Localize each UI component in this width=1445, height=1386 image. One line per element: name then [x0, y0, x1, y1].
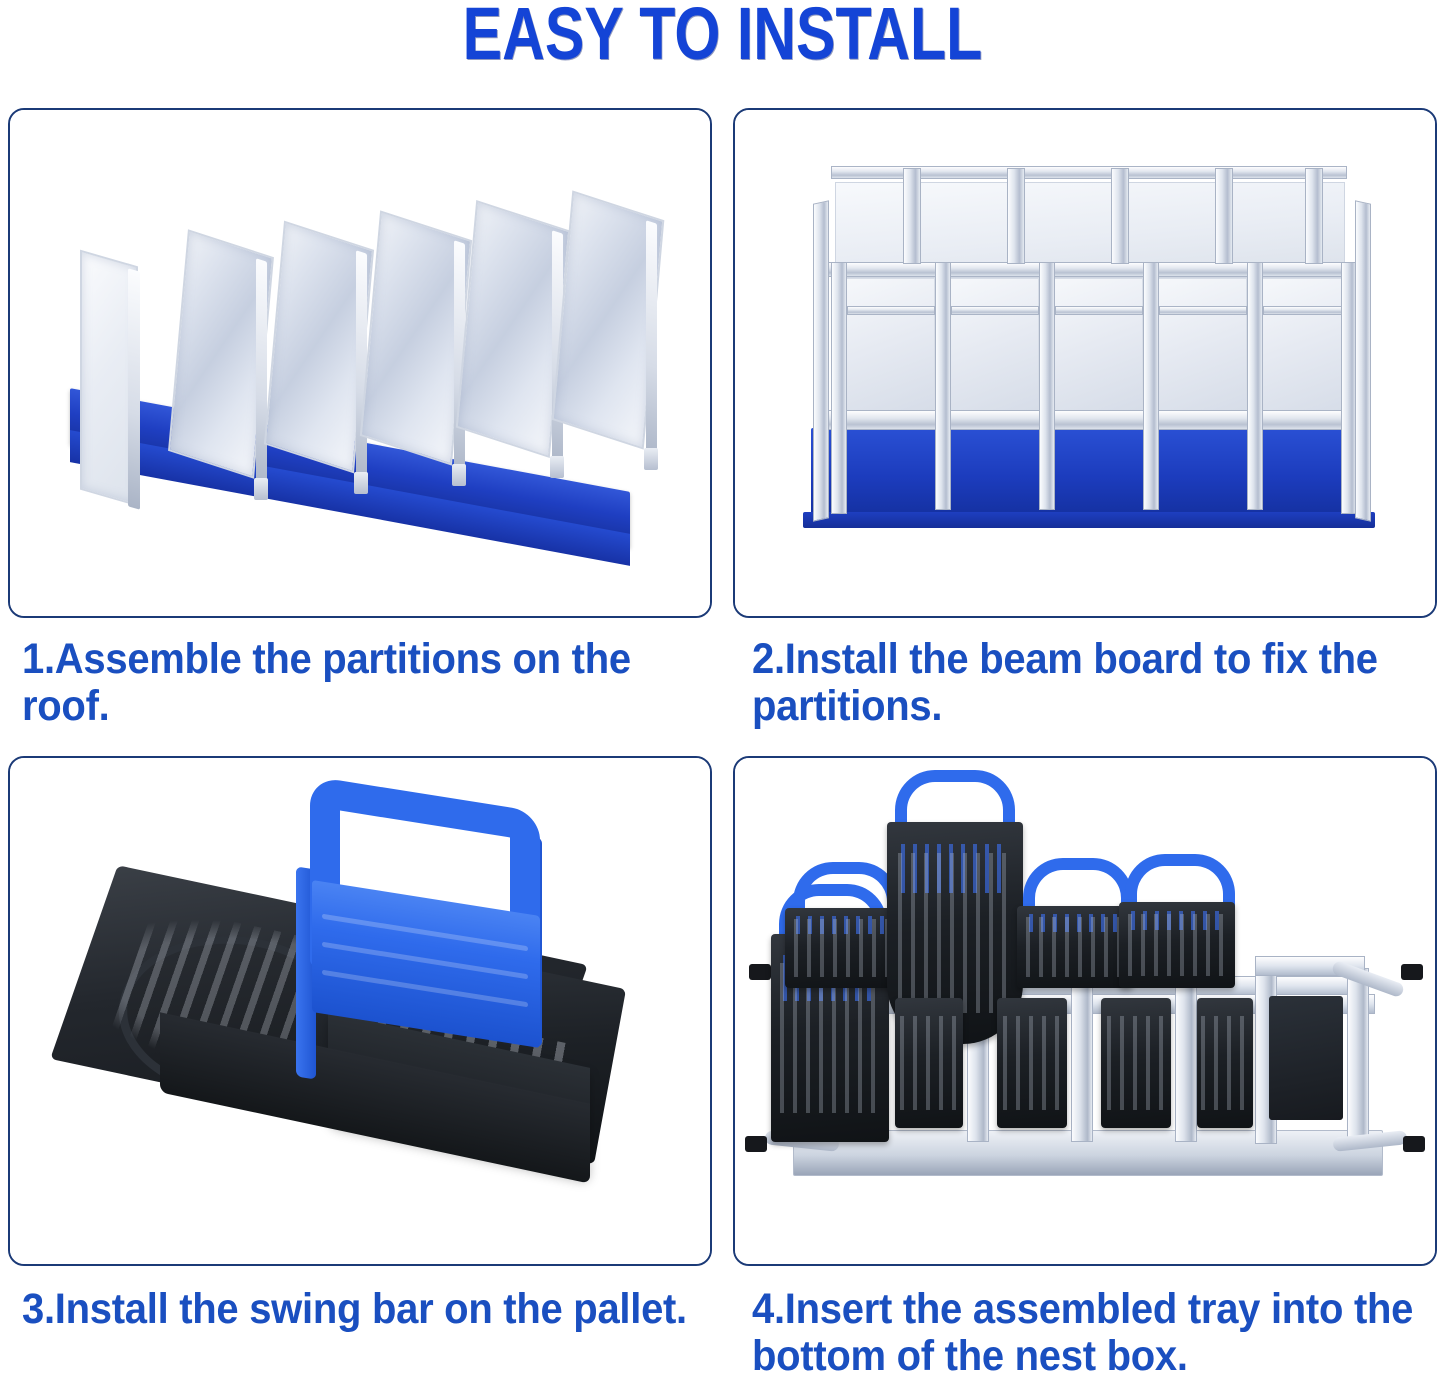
tray-5 [1119, 902, 1235, 988]
partition-face-2 [943, 278, 1039, 428]
side-leg-cap-right [1401, 964, 1423, 980]
tray-body-bay-3-perf [1003, 1016, 1062, 1110]
tray-body-bay-5-perf [1201, 1016, 1248, 1110]
partition-6-foot [644, 448, 658, 470]
partition-face-4 [1151, 278, 1247, 428]
beam-board-inner-4 [1159, 306, 1247, 315]
post-3 [1039, 262, 1055, 510]
partition-3-foot [354, 472, 368, 494]
tray-body-bay-2 [895, 998, 963, 1128]
nest-box-post-6 [1347, 968, 1369, 1144]
partition-2-foot [254, 478, 268, 500]
post-4 [1143, 262, 1159, 510]
post-2 [935, 262, 951, 510]
empty-bay-shadow [1269, 996, 1343, 1120]
tray-5-perforations [1128, 914, 1225, 976]
step-3-caption: 3.Install the swing bar on the pallet. [22, 1286, 692, 1333]
roof-hanger-1 [903, 168, 921, 264]
step-2-cell [733, 108, 1437, 618]
beam-board-inner-5 [1263, 306, 1351, 315]
step-4-photo [735, 758, 1437, 1266]
step-3-cell [8, 756, 712, 1266]
nest-box-post-4 [1175, 980, 1197, 1142]
tray-body-bay-4 [1101, 998, 1171, 1128]
post-1 [831, 262, 847, 514]
step-4-caption: 4.Insert the assembled tray into the bot… [752, 1286, 1422, 1380]
partition-5-foot [550, 456, 564, 478]
step-4-panel [733, 756, 1437, 1266]
step-3-photo [10, 758, 712, 1266]
base-plate-lip [803, 512, 1375, 528]
step-2-photo [735, 110, 1437, 618]
step-2-panel [733, 108, 1437, 618]
partition-4-foot [452, 464, 466, 486]
step-1-cell [8, 108, 712, 618]
tray-4-perforations [1026, 917, 1123, 976]
tray-body-bay-2-perf [900, 1016, 957, 1110]
side-leg-cap-left [749, 964, 771, 980]
tray-body-bay-5 [1197, 998, 1253, 1128]
side-frame-right [1355, 200, 1371, 521]
tray-body-bay-3 [997, 998, 1067, 1128]
partition-2-rail [256, 258, 267, 494]
step-1-panel [8, 108, 712, 618]
step-2-caption: 2.Install the beam board to fix the part… [752, 636, 1422, 730]
roof-hanger-4 [1215, 168, 1233, 264]
partition-face-1 [839, 278, 935, 428]
roof-hanger-3 [1111, 168, 1129, 264]
tray-4 [1017, 906, 1133, 988]
step-1-caption: 1.Assemble the partitions on the roof. [22, 636, 692, 730]
step-3-panel [8, 756, 712, 1266]
partition-face-5 [1255, 278, 1351, 428]
tray-body-bay-4-perf [1107, 1016, 1166, 1110]
tray-2 [785, 908, 897, 988]
roof-hanger-2 [1007, 168, 1025, 264]
side-leg-cap-left-lower [745, 1136, 767, 1152]
partition-face-3 [1047, 278, 1143, 428]
partition-6-rail [646, 220, 657, 464]
base-plate [811, 428, 1367, 518]
beam-board-inner-3 [1055, 306, 1143, 315]
tray-3-perforations [898, 853, 1012, 1013]
side-leg-cap-right-lower [1403, 1136, 1425, 1152]
step-1-photo [10, 110, 712, 618]
page-title: EASY TO INSTALL [145, 0, 1301, 72]
beam-board-inner-1 [847, 306, 935, 315]
beam-board-inner-2 [951, 306, 1039, 315]
tray-2-perforations [794, 919, 888, 977]
step-4-cell [733, 756, 1437, 1266]
beam-board-mid [823, 410, 1357, 430]
partition-1-rail [128, 268, 140, 509]
side-frame-left [813, 200, 829, 521]
roof-hanger-5 [1305, 168, 1323, 264]
nest-box-post-3 [1071, 980, 1093, 1142]
post-5 [1247, 262, 1263, 510]
roof-beam-2 [827, 262, 1351, 277]
